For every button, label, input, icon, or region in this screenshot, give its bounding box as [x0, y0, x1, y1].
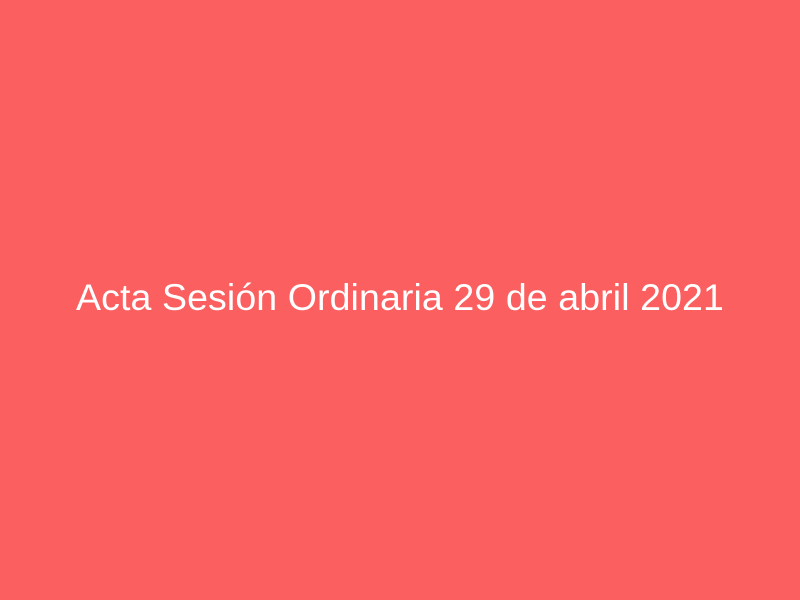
placeholder-card: Acta Sesión Ordinaria 29 de abril 2021 — [0, 0, 800, 600]
page-title: Acta Sesión Ordinaria 29 de abril 2021 — [0, 275, 800, 320]
